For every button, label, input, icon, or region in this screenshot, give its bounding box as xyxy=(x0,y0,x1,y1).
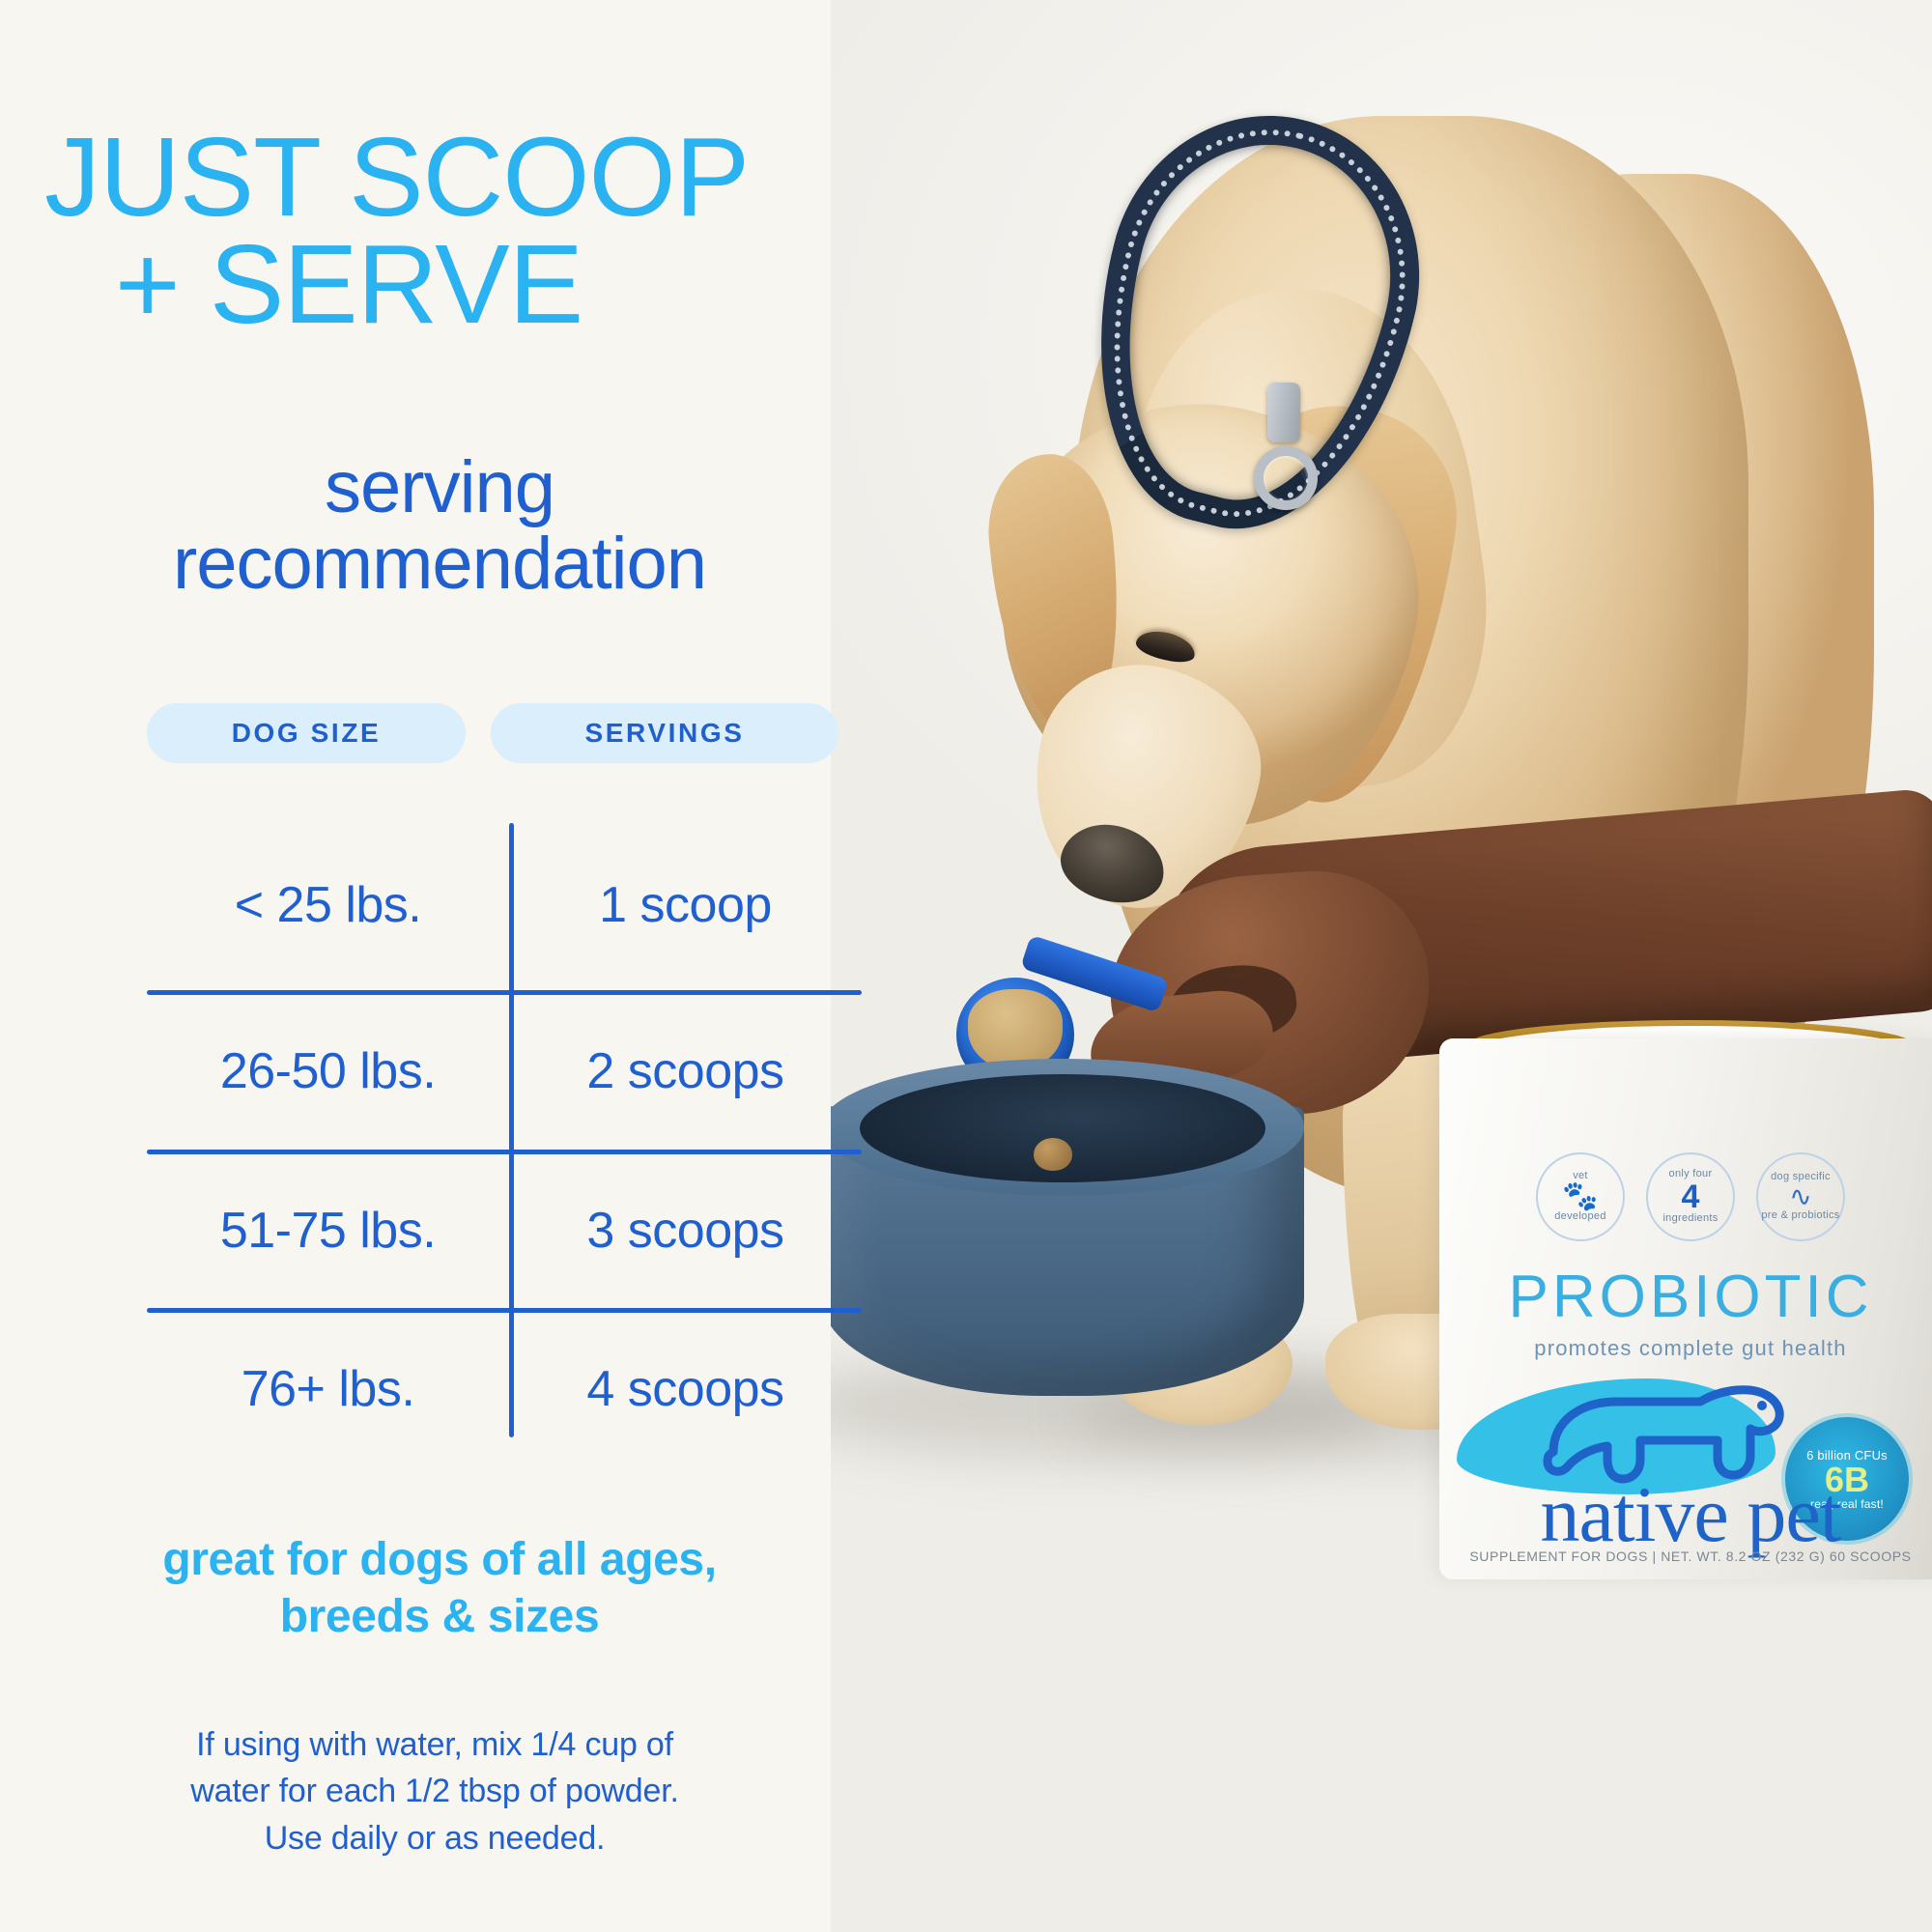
badge-vet-developed: vet 🐾 developed xyxy=(1536,1152,1625,1241)
fineprint-line-2: water for each 1/2 tbsp of powder. xyxy=(190,1773,678,1809)
kibble-piece xyxy=(1034,1138,1072,1171)
product-photo: vet 🐾 developed only four 4 ingredients … xyxy=(831,0,1932,1932)
column-header-servings: SERVINGS xyxy=(491,703,838,763)
fineprint-line-3: Use daily or as needed. xyxy=(265,1820,606,1857)
table-row: 26-50 lbs. 2 scoops xyxy=(147,991,862,1151)
tagline: great for dogs of all ages, breeds & siz… xyxy=(58,1532,821,1645)
table-row: 51-75 lbs. 3 scoops xyxy=(147,1151,862,1310)
serving-recommendation-table: < 25 lbs. 1 scoop 26-50 lbs. 2 scoops 51… xyxy=(147,802,862,1459)
table-row: < 25 lbs. 1 scoop xyxy=(147,825,862,984)
tin-product-title: PROBIOTIC xyxy=(1439,1263,1932,1331)
product-tin: vet 🐾 developed only four 4 ingredients … xyxy=(1439,1038,1932,1579)
cell-dog-size: 76+ lbs. xyxy=(147,1360,509,1418)
column-header-dog-size: DOG SIZE xyxy=(147,703,466,763)
badge-four-ingredients: only four 4 ingredients xyxy=(1646,1152,1735,1241)
subhead-line-2: recommendation xyxy=(173,523,706,605)
headline-line-1: JUST SCOOP xyxy=(44,124,837,231)
brand-wordmark: native pet xyxy=(1439,1475,1932,1554)
paw-icon: 🐾 xyxy=(1562,1182,1598,1211)
cell-servings: 3 scoops xyxy=(509,1202,862,1260)
cell-dog-size: 26-50 lbs. xyxy=(147,1042,509,1100)
collar-buckle xyxy=(1267,383,1300,442)
table-header-pills: DOG SIZE SERVINGS xyxy=(147,703,838,763)
subhead-line-1: serving xyxy=(325,446,554,528)
cell-dog-size: < 25 lbs. xyxy=(147,876,509,934)
tagline-line-1: great for dogs of all ages, xyxy=(162,1534,716,1585)
gut-icon: ∿ xyxy=(1789,1183,1811,1210)
tin-product-subtitle: promotes complete gut health xyxy=(1439,1336,1932,1361)
usage-instructions: If using with water, mix 1/4 cup of wate… xyxy=(116,1721,753,1861)
tin-badge-row: vet 🐾 developed only four 4 ingredients … xyxy=(1439,1152,1932,1241)
tagline-line-2: breeds & sizes xyxy=(280,1591,600,1642)
badge-number: 4 xyxy=(1682,1180,1700,1213)
collar-d-ring xyxy=(1254,446,1318,510)
badge-dog-specific: dog specific ∿ pre & probiotics xyxy=(1756,1152,1845,1241)
cell-dog-size: 51-75 lbs. xyxy=(147,1202,509,1260)
badge-bottom-label: ingredients xyxy=(1662,1213,1718,1225)
page-subheadline: serving recommendation xyxy=(29,449,850,602)
cell-servings: 4 scoops xyxy=(509,1360,862,1418)
page-headline: JUST SCOOP + SERVE xyxy=(44,124,837,339)
cell-servings: 2 scoops xyxy=(509,1042,862,1100)
fineprint-line-1: If using with water, mix 1/4 cup of xyxy=(196,1726,673,1763)
badge-bottom-label: pre & probiotics xyxy=(1761,1210,1839,1222)
cell-servings: 1 scoop xyxy=(509,876,862,934)
table-row: 76+ lbs. 4 scoops xyxy=(147,1309,862,1468)
badge-bottom-label: developed xyxy=(1554,1211,1605,1223)
info-panel: JUST SCOOP + SERVE serving recommendatio… xyxy=(0,0,869,1932)
tin-net-weight-text: SUPPLEMENT FOR DOGS | NET. WT. 8.2 OZ (2… xyxy=(1439,1548,1932,1564)
headline-line-2: + SERVE xyxy=(44,231,837,338)
